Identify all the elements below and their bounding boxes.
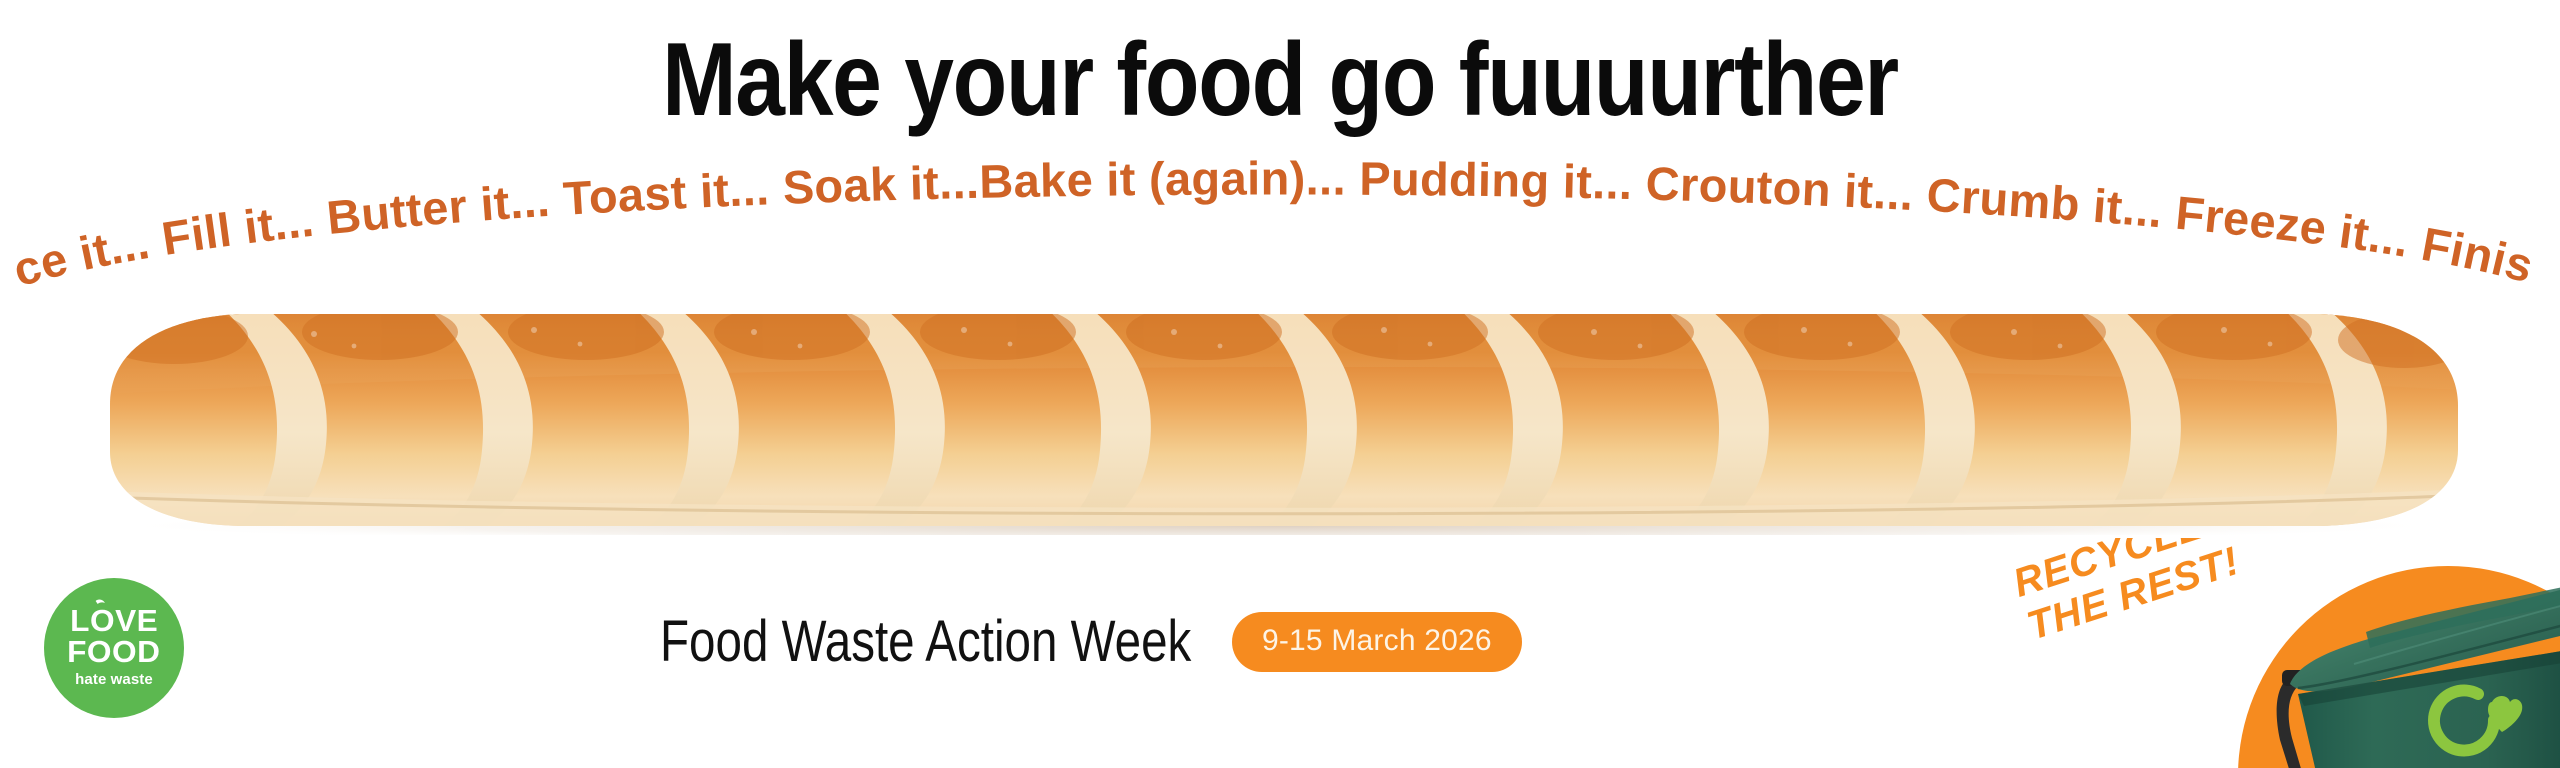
recycle-corner: RECYCLE THE REST! xyxy=(2000,538,2560,768)
bread-loaf-image xyxy=(14,300,2548,535)
logo-line-love: LOVE xyxy=(70,606,158,636)
love-food-hate-waste-logo[interactable]: LOVE FOOD hate waste xyxy=(44,578,184,718)
strapline-text: Slice it... Fill it... Butter it... Toas… xyxy=(0,125,2539,296)
campaign-banner: Make your food go fuuuurther Slice it...… xyxy=(0,0,2560,768)
recycle-the-rest-text: RECYCLE THE REST! xyxy=(2008,538,2292,649)
logo-love-text: LOVE xyxy=(70,603,158,638)
strapline-arc: Slice it... Fill it... Butter it... Toas… xyxy=(0,168,2560,298)
event-lockup: Food Waste Action Week 9-15 March 2026 xyxy=(660,608,1522,675)
event-date-badge: 9-15 March 2026 xyxy=(1232,612,1522,672)
logo-line-hate-waste: hate waste xyxy=(75,671,153,688)
logo-line-food: FOOD xyxy=(67,636,160,667)
apple-leaf-icon xyxy=(92,599,109,612)
event-title: Food Waste Action Week xyxy=(660,608,1191,675)
recycling-bin-image xyxy=(2268,572,2560,768)
page-title: Make your food go fuuuurther xyxy=(179,26,2381,135)
